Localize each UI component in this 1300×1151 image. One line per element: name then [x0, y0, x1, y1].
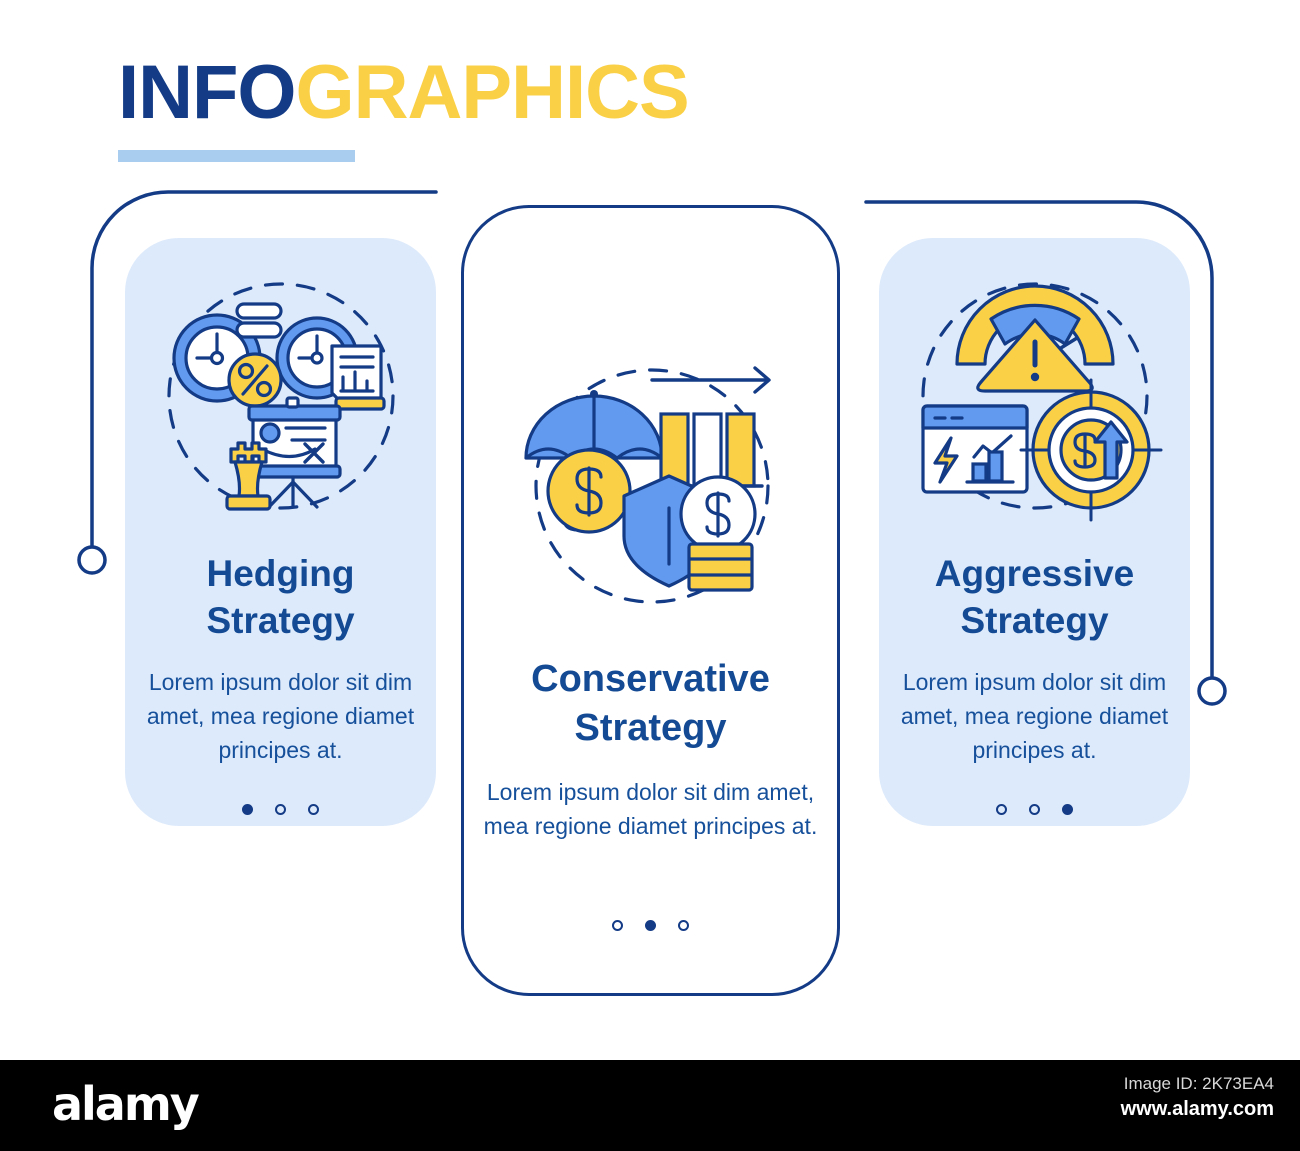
card-title-hedging: Hedging Strategy [125, 550, 436, 645]
pagination-dots-hedging[interactable] [125, 804, 436, 815]
card-hedging[interactable]: Hedging Strategy Lorem ipsum dolor sit d… [125, 238, 436, 826]
card-title-conservative: Conservative Strategy [464, 655, 837, 752]
conservative-strategy-icon [464, 348, 837, 618]
page-title: INFOGRAPHICS [118, 55, 689, 162]
card-title-line2: Strategy [125, 597, 436, 644]
pagination-dots-aggressive[interactable] [879, 804, 1190, 815]
title-text: INFOGRAPHICS [118, 55, 689, 131]
card-title-line1: Hedging [125, 550, 436, 597]
card-body-hedging: Lorem ipsum dolor sit dim amet, mea regi… [125, 666, 436, 767]
dot-2[interactable] [1029, 804, 1040, 815]
right-connector-endpoint [1199, 678, 1225, 704]
infographic-page: INFOGRAPHICS [0, 0, 1300, 1151]
card-body-aggressive: Lorem ipsum dolor sit dim amet, mea regi… [879, 666, 1190, 767]
card-body-conservative: Lorem ipsum dolor sit dim amet, mea regi… [464, 776, 837, 844]
card-title-line1: Aggressive [879, 550, 1190, 597]
pagination-dots-conservative[interactable] [464, 920, 837, 931]
card-title-line1: Conservative [464, 655, 837, 704]
title-segment-graphics: GRAPHICS [296, 50, 689, 135]
alamy-url-label: www.alamy.com [974, 1098, 1274, 1121]
dot-2[interactable] [275, 804, 286, 815]
dot-1[interactable] [242, 804, 253, 815]
image-id-label: Image ID: 2K73EA4 [974, 1074, 1274, 1094]
card-title-line2: Strategy [879, 597, 1190, 644]
card-title-line2: Strategy [464, 704, 837, 753]
dot-1[interactable] [996, 804, 1007, 815]
dot-3[interactable] [1062, 804, 1073, 815]
dot-1[interactable] [612, 920, 623, 931]
title-underline-bar [118, 150, 355, 162]
aggressive-strategy-icon [879, 260, 1190, 532]
hedging-strategy-icon [125, 260, 436, 532]
dot-2[interactable] [645, 920, 656, 931]
card-title-aggressive: Aggressive Strategy [879, 550, 1190, 645]
dot-3[interactable] [678, 920, 689, 931]
alamy-logo: alamy [52, 1077, 198, 1131]
dot-3[interactable] [308, 804, 319, 815]
left-connector-endpoint [79, 547, 105, 573]
watermark-footer-bar: alamy Image ID: 2K73EA4 www.alamy.com [0, 1060, 1300, 1151]
card-conservative[interactable]: Conservative Strategy Lorem ipsum dolor … [461, 205, 840, 996]
card-aggressive[interactable]: Aggressive Strategy Lorem ipsum dolor si… [879, 238, 1190, 826]
title-segment-info: INFO [118, 50, 296, 135]
